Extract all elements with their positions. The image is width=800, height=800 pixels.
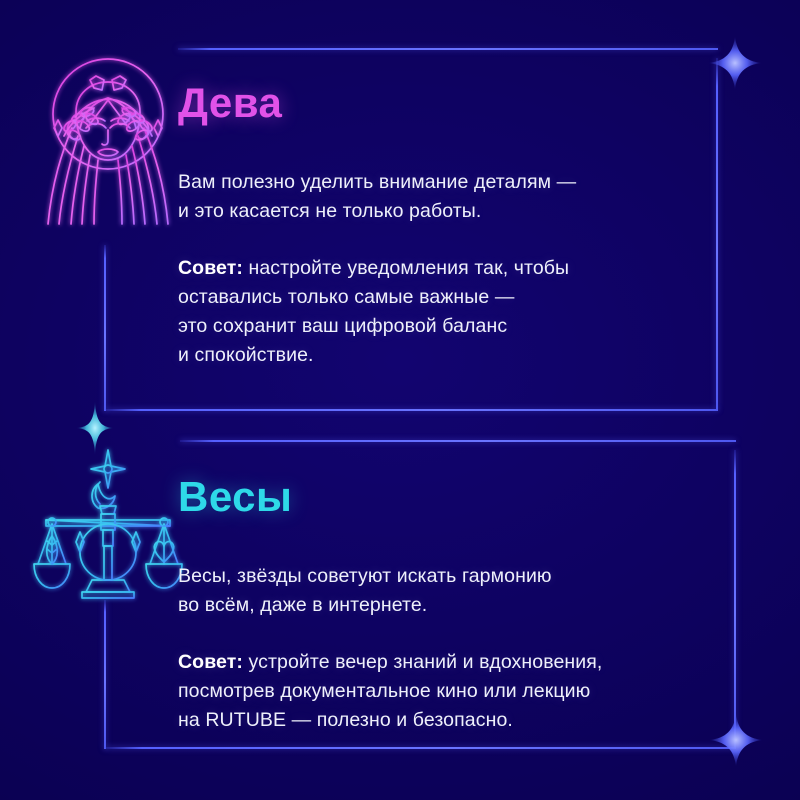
libra-tip-paragraph: Совет: устройте вечер знаний и вдохновен… — [178, 648, 738, 735]
libra-tip-label: Совет: — [178, 651, 243, 673]
libra-scales-icon — [28, 448, 188, 608]
poster-canvas: Дева Вам полезно уделить внимание деталя… — [0, 0, 800, 800]
section-libra: Весы Весы, звёзды советуют искать гармон… — [0, 0, 800, 800]
libra-title: Весы — [178, 476, 738, 518]
libra-content: Весы Весы, звёзды советуют искать гармон… — [178, 476, 738, 735]
libra-intro-text: Весы, звёзды советуют искать гармонию во… — [178, 562, 738, 620]
